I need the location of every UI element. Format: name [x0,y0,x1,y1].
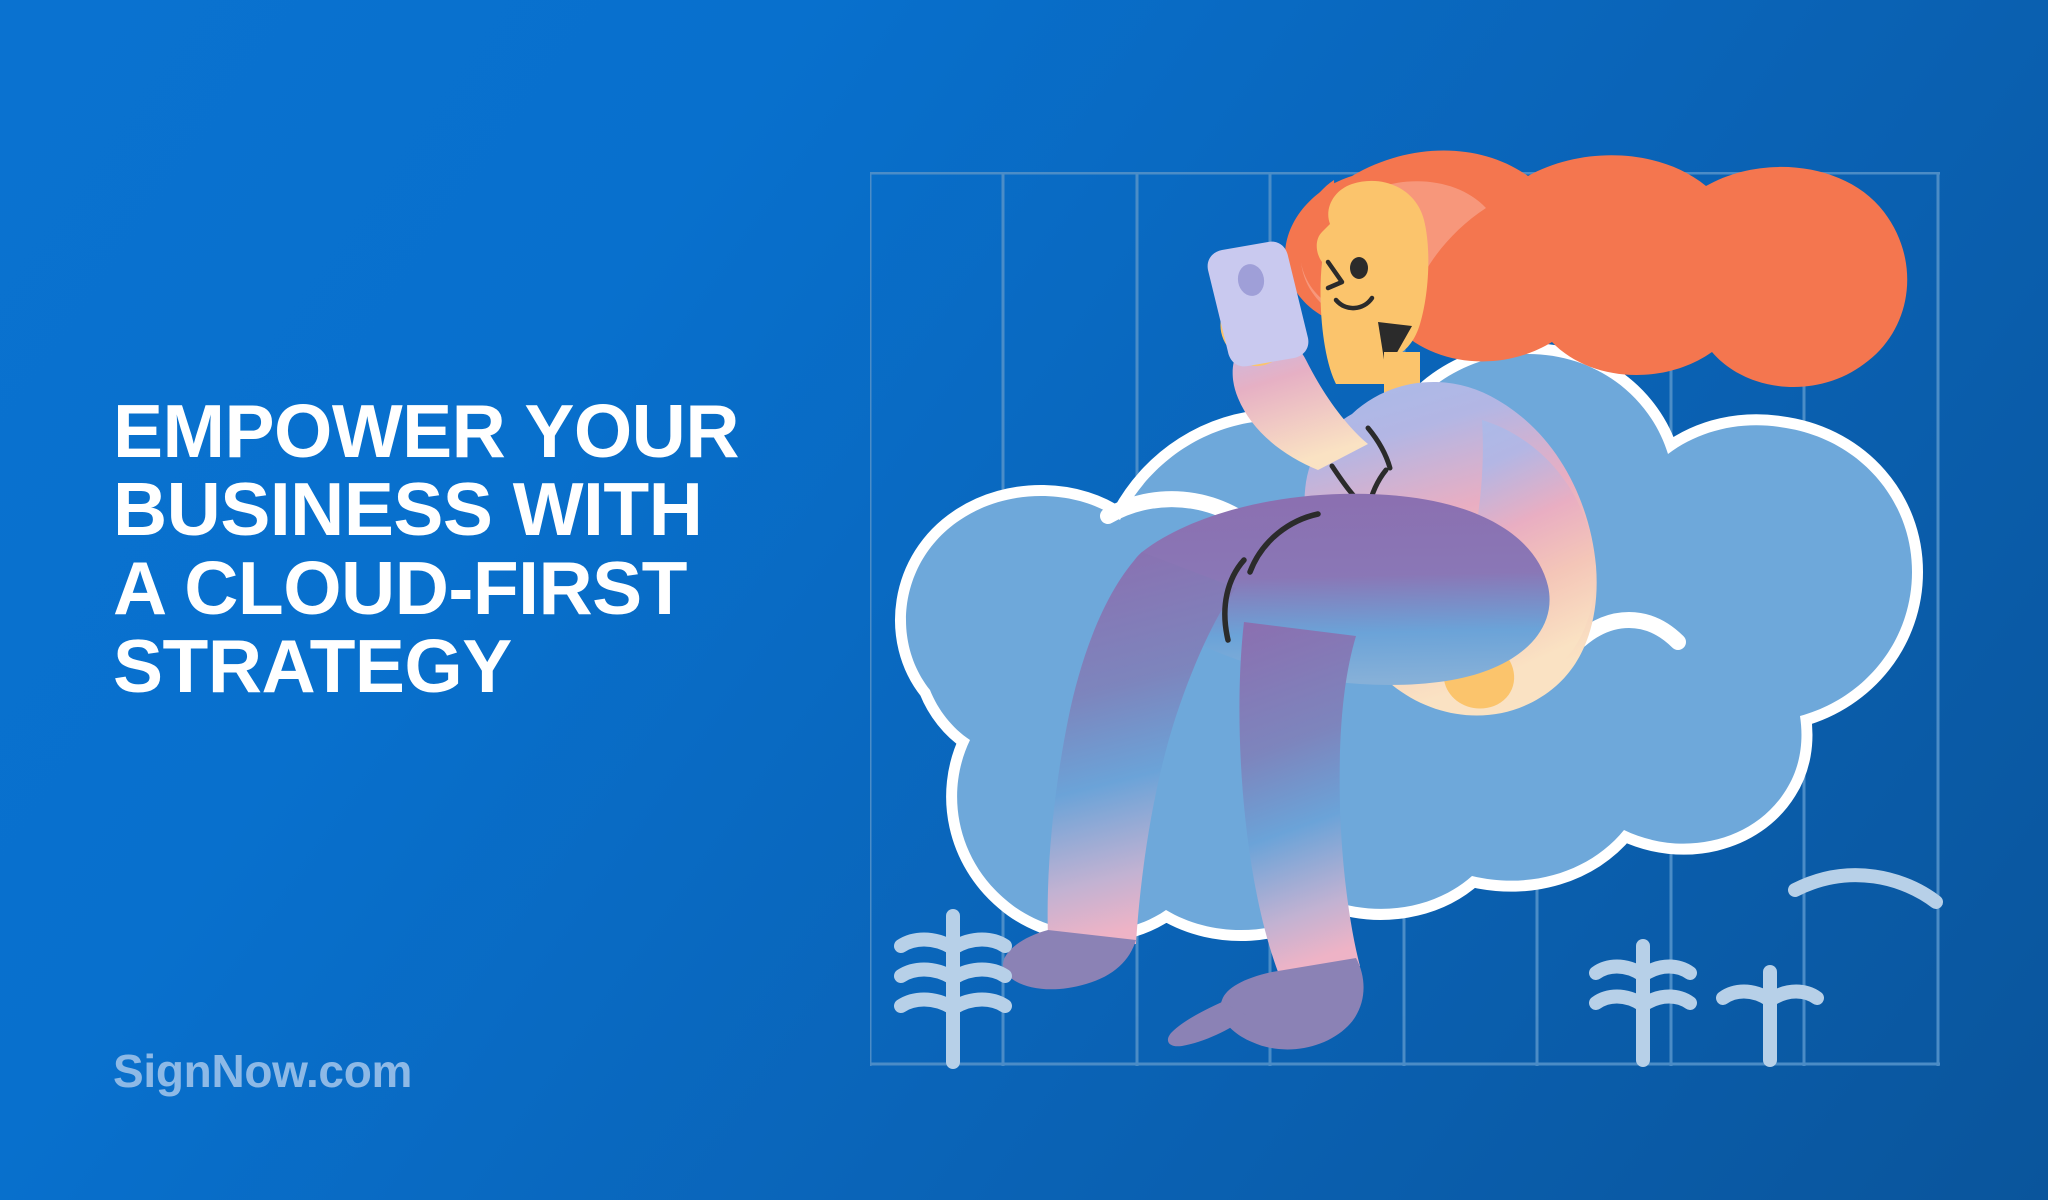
brand-logo-text[interactable]: SignNow.com [113,1048,412,1094]
promo-banner: EMPOWER YOUR BUSINESS WITH A CLOUD-FIRST… [0,0,2048,1200]
character-head [1317,181,1429,400]
plant-right-tall-icon [1596,946,1690,1060]
arc-decoration-icon [1795,875,1936,902]
plant-left-icon [901,916,1005,1062]
eye [1350,257,1368,279]
text-column: EMPOWER YOUR BUSINESS WITH A CLOUD-FIRST… [113,0,813,1200]
page-title: EMPOWER YOUR BUSINESS WITH A CLOUD-FIRST… [113,392,803,706]
